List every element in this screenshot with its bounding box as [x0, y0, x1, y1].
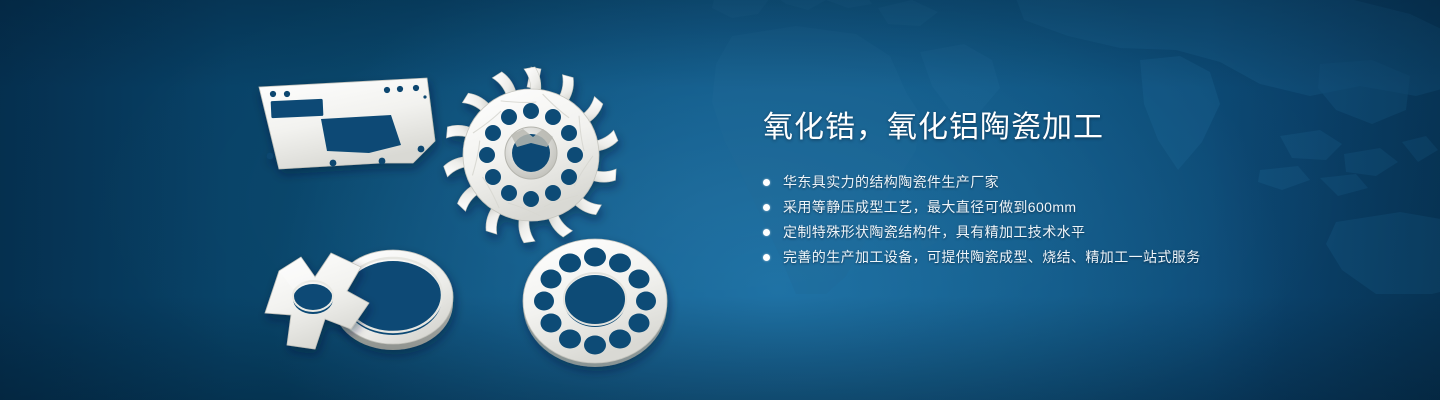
list-item: 定制特殊形状陶瓷结构件，具有精加工技术水平	[763, 220, 1383, 244]
ceramic-perforated-ring-disc	[523, 239, 667, 367]
ceramic-base-plate	[259, 78, 435, 169]
feature-text: 华东具实力的结构陶瓷件生产厂家	[783, 170, 999, 194]
bullet-dot-icon	[763, 254, 770, 261]
ceramic-impeller-disc	[443, 67, 619, 243]
bullet-dot-icon	[763, 229, 770, 236]
bullet-dot-icon	[763, 179, 770, 186]
banner-copy: 氧化锆，氧化铝陶瓷加工 华东具实力的结构陶瓷件生产厂家 采用等静压成型工艺，最大…	[763, 108, 1383, 270]
page-title: 氧化锆，氧化铝陶瓷加工	[763, 108, 1383, 148]
feature-text: 采用等静压成型工艺，最大直径可做到600mm	[783, 195, 1076, 219]
ceramic-products-image	[235, 45, 705, 385]
ceramic-processing-banner: 氧化锆，氧化铝陶瓷加工 华东具实力的结构陶瓷件生产厂家 采用等静压成型工艺，最大…	[0, 0, 1440, 400]
list-item: 完善的生产加工设备，可提供陶瓷成型、烧结、精加工一站式服务	[763, 245, 1383, 269]
feature-list: 华东具实力的结构陶瓷件生产厂家 采用等静压成型工艺，最大直径可做到600mm 定…	[763, 170, 1383, 269]
feature-text: 定制特殊形状陶瓷结构件，具有精加工技术水平	[783, 220, 1085, 244]
bullet-dot-icon	[763, 204, 770, 211]
list-item: 采用等静压成型工艺，最大直径可做到600mm	[763, 195, 1383, 219]
list-item: 华东具实力的结构陶瓷件生产厂家	[763, 170, 1383, 194]
feature-text: 完善的生产加工设备，可提供陶瓷成型、烧结、精加工一站式服务	[783, 245, 1201, 269]
